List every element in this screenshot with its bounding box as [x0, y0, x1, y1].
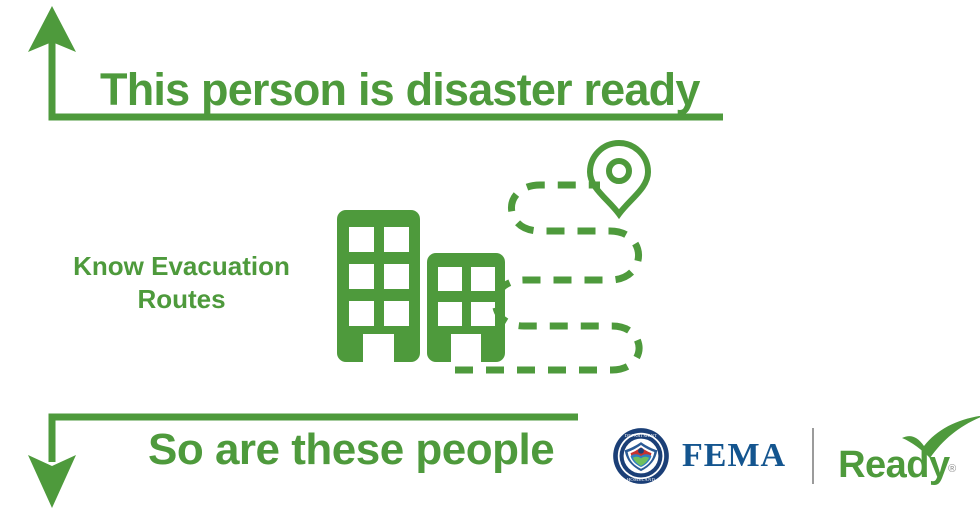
ready-campaign-infographic: This person is disaster ready Know Evacu…	[0, 0, 980, 515]
map-pin-icon	[590, 143, 648, 214]
tall-building-icon	[337, 210, 420, 363]
ready-wordmark: Ready	[838, 446, 950, 484]
registered-trademark-icon: ®	[948, 464, 956, 475]
svg-text:HOMELAND: HOMELAND	[627, 478, 656, 483]
ready-logo: Ready ®	[836, 420, 980, 492]
fema-wordmark: FEMA	[682, 439, 786, 473]
logo-divider	[812, 428, 814, 484]
short-building-icon	[427, 253, 505, 363]
caption-line-1: Know Evacuation	[34, 250, 329, 283]
svg-text:DEPARTMENT: DEPARTMENT	[625, 434, 658, 439]
logo-lockup: DEPARTMENT HOMELAND FEMA Ready ®	[612, 420, 980, 492]
dhs-seal-icon: DEPARTMENT HOMELAND	[612, 427, 670, 485]
evacuation-routes-caption: Know Evacuation Routes	[34, 250, 329, 317]
caption-line-2: Routes	[34, 283, 329, 316]
dashed-evacuation-route	[455, 185, 639, 370]
headline-bottom: So are these people	[148, 425, 554, 475]
headline-top: This person is disaster ready	[100, 64, 700, 116]
